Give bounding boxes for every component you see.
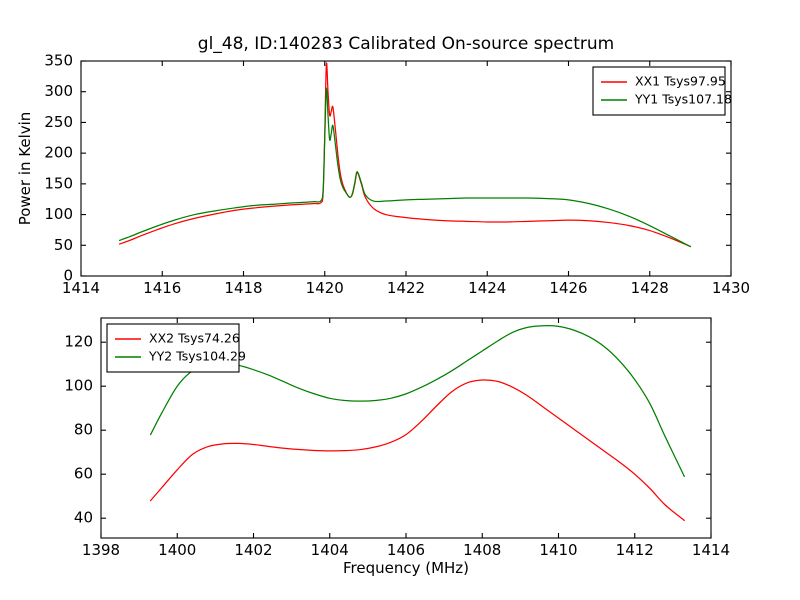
panel-top: 1414141614181420142214241426142814300501… (16, 34, 750, 297)
y-tick-label-bottom-2: 80 (74, 421, 93, 439)
x-tick-label-top-7: 1428 (631, 279, 669, 297)
y-tick-label-top-3: 150 (44, 174, 73, 192)
legend-label-yy1: YY1 Tsys107.18 (634, 92, 732, 107)
y-tick-label-top-7: 350 (44, 52, 73, 70)
x-tick-label-top-8: 1430 (712, 279, 750, 297)
legend-bottom: XX2 Tsys74.26YY2 Tsys104.29 (107, 324, 246, 372)
x-tick-label-bottom-6: 1410 (539, 541, 577, 559)
y-tick-label-bottom-1: 60 (74, 465, 93, 483)
x-tick-label-top-6: 1426 (549, 279, 587, 297)
spectrum-figure: 1414141614181420142214241426142814300501… (0, 0, 800, 600)
y-tick-label-bottom-3: 100 (64, 377, 93, 395)
x-tick-label-bottom-2: 1402 (234, 541, 272, 559)
y-tick-label-top-4: 200 (44, 144, 73, 162)
panel-bottom: 1398140014021404140614081410141214144060… (64, 318, 730, 577)
x-tick-label-top-2: 1418 (224, 279, 262, 297)
y-tick-label-top-1: 50 (54, 236, 73, 254)
x-tick-label-top-5: 1424 (468, 279, 506, 297)
series-line-xx2 (151, 380, 685, 520)
x-axis-label-bottom: Frequency (MHz) (343, 559, 469, 577)
legend-label-xx2: XX2 Tsys74.26 (149, 331, 240, 346)
y-tick-label-top-6: 300 (44, 82, 73, 100)
y-axis-label-top: Power in Kelvin (16, 112, 34, 226)
legend-top: XX1 Tsys97.95YY1 Tsys107.18 (593, 67, 732, 115)
x-tick-label-bottom-8: 1414 (692, 541, 730, 559)
x-tick-label-bottom-3: 1404 (311, 541, 349, 559)
figure-canvas: 1414141614181420142214241426142814300501… (0, 0, 800, 600)
x-tick-label-bottom-7: 1412 (616, 541, 654, 559)
x-tick-label-bottom-5: 1408 (463, 541, 501, 559)
legend-label-xx1: XX1 Tsys97.95 (635, 74, 726, 89)
x-tick-label-top-1: 1416 (143, 279, 181, 297)
x-tick-label-bottom-4: 1406 (387, 541, 425, 559)
y-tick-label-top-2: 100 (44, 205, 73, 223)
y-tick-label-bottom-4: 120 (64, 333, 93, 351)
x-tick-label-top-4: 1422 (387, 279, 425, 297)
x-tick-label-bottom-1: 1400 (158, 541, 196, 559)
legend-label-yy2: YY2 Tsys104.29 (148, 349, 246, 364)
y-tick-label-top-0: 0 (63, 267, 73, 285)
y-tick-label-top-5: 250 (44, 113, 73, 131)
x-tick-label-bottom-0: 1398 (82, 541, 120, 559)
x-tick-label-top-3: 1420 (306, 279, 344, 297)
y-tick-label-bottom-0: 40 (74, 509, 93, 527)
plot-title: gl_48, ID:140283 Calibrated On-source sp… (198, 34, 614, 54)
